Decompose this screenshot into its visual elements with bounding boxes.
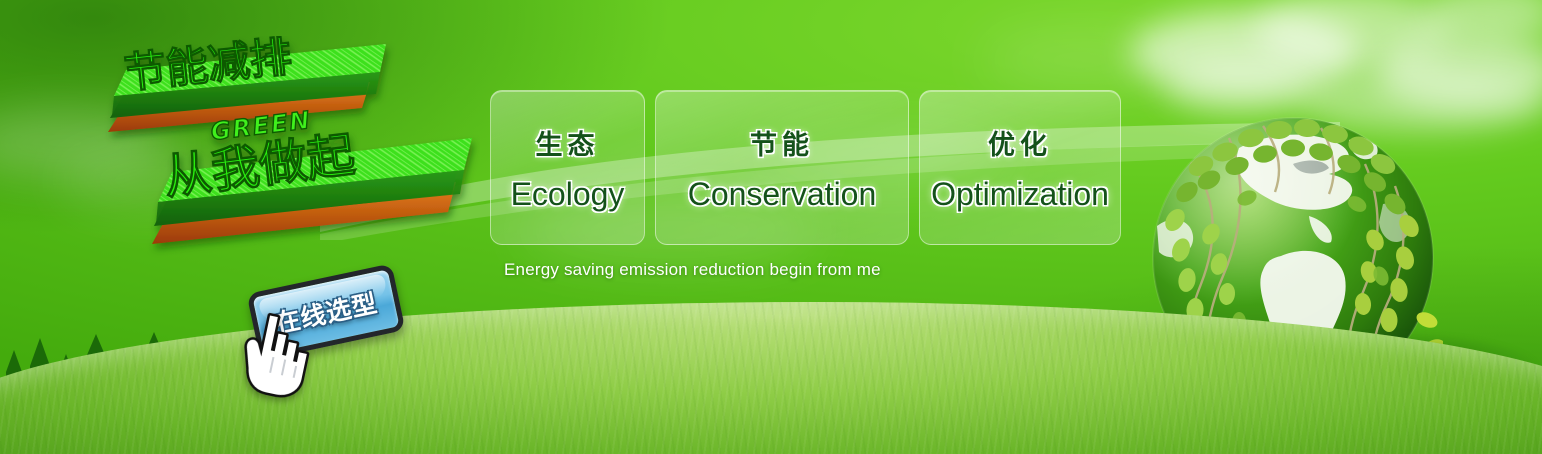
tagline-text: Energy saving emission reduction begin f… [504, 260, 881, 280]
feature-card-cn-label: 优化 [988, 123, 1052, 162]
feature-card-cn-label: 节能 [750, 123, 814, 162]
feature-card-cn-label: 生态 [536, 123, 600, 162]
feature-card-ecology[interactable]: 生态 Ecology [490, 90, 645, 245]
feature-card-en-label: Optimization [931, 176, 1109, 213]
feature-card-conservation[interactable]: 节能 Conservation [655, 90, 909, 245]
feature-card-optimization[interactable]: 优化 Optimization [919, 90, 1121, 245]
feature-card-list: 生态 Ecology 节能 Conservation 优化 Optimizati… [490, 90, 1121, 245]
online-selection-label: 在线选型 [271, 284, 380, 341]
feature-card-en-label: Ecology [511, 176, 625, 213]
feature-card-en-label: Conservation [688, 176, 877, 213]
hero-title-3d: 节能减排 GREEN 从我做起 [100, 36, 480, 266]
eco-banner: 节能减排 GREEN 从我做起 生态 Ecology 节能 Conservati… [0, 0, 1542, 454]
